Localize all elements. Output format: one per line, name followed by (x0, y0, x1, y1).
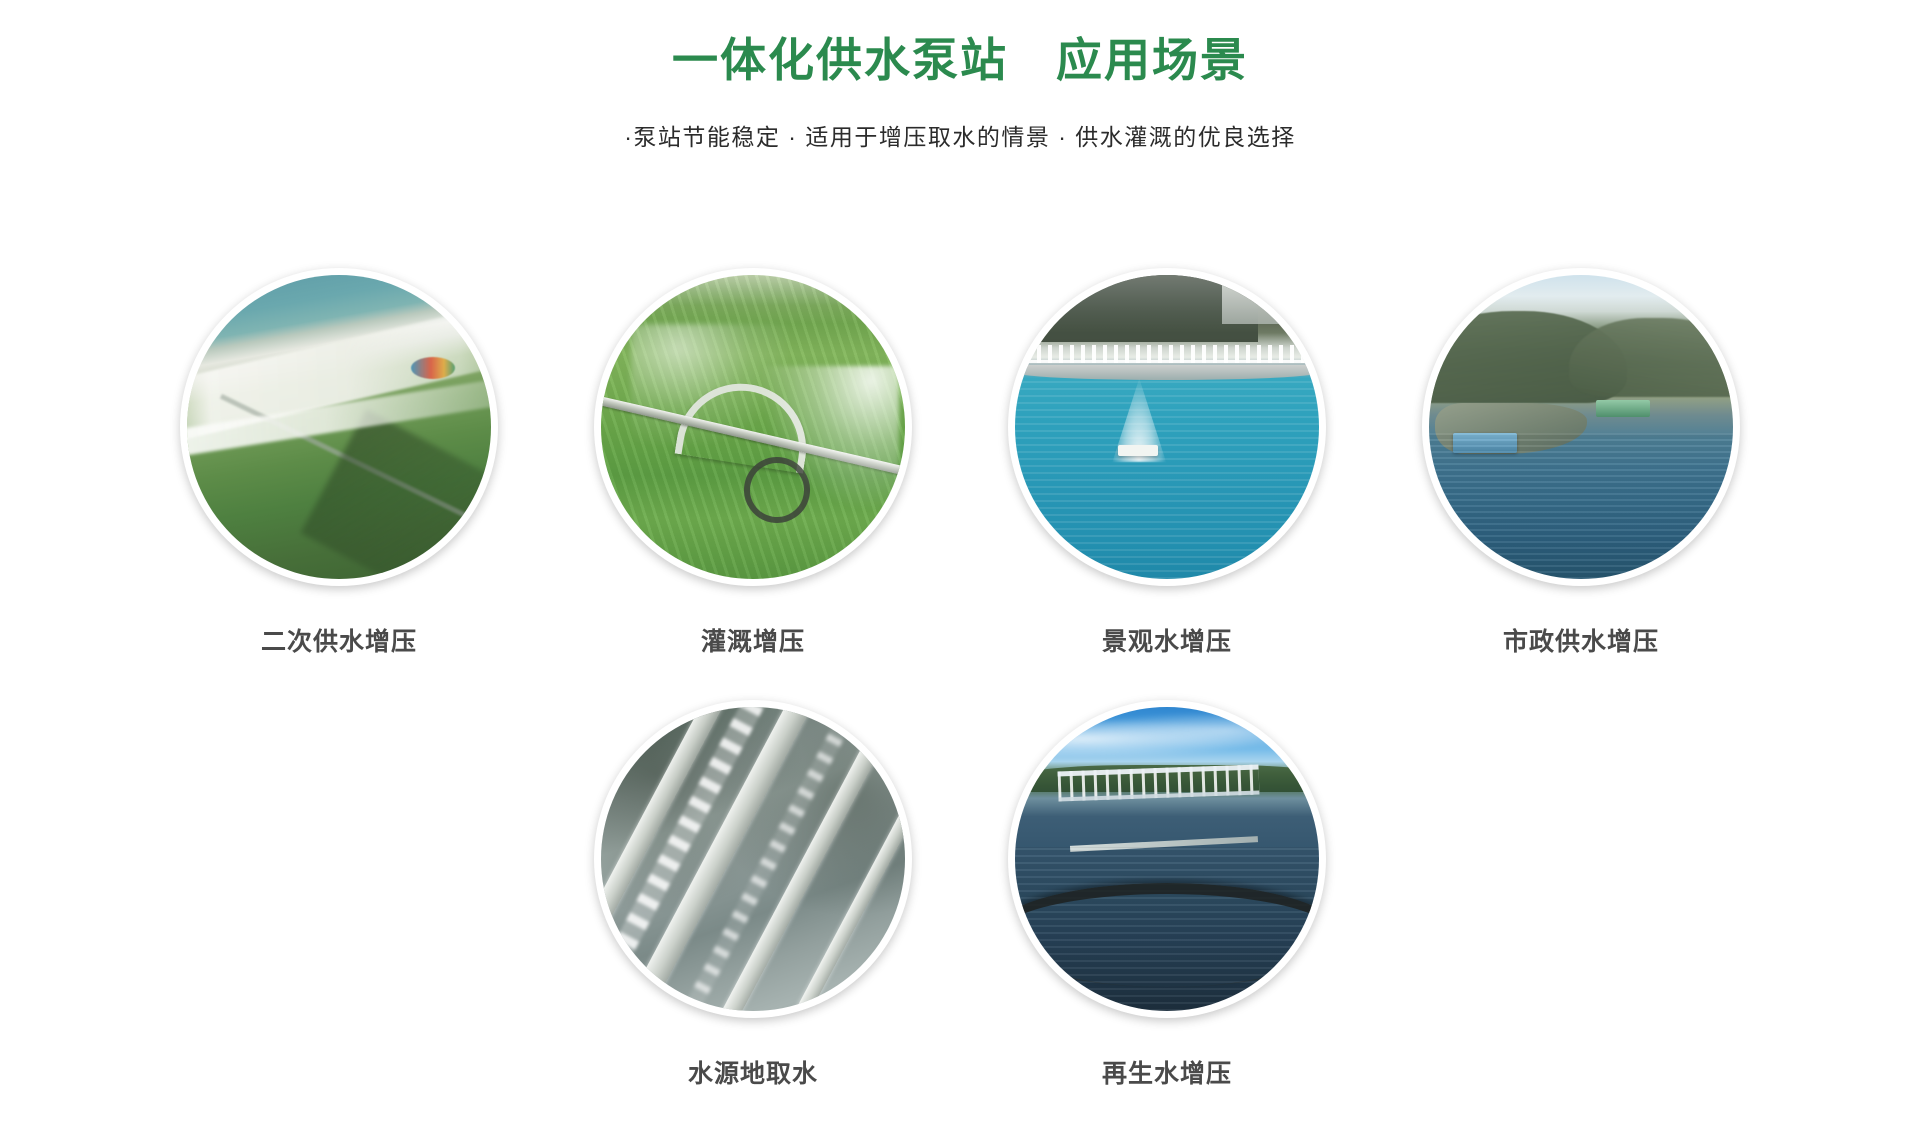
river-valley-intake-photo (1429, 275, 1733, 579)
scene-caption: 景观水增压 (1102, 622, 1232, 658)
scene-caption: 灌溉增压 (701, 622, 805, 658)
shore-structure-shape (1596, 400, 1650, 417)
fountain-base-shape (1118, 445, 1158, 456)
scene-card-irrigation-boosting[interactable]: 灌溉增压 (594, 268, 912, 658)
scene-caption: 再生水增压 (1102, 1054, 1232, 1090)
scene-image-frame (594, 700, 912, 1018)
scene-image-frame (1422, 268, 1740, 586)
application-scenarios-page: 一体化供水泵站 应用场景 ·泵站节能稳定 · 适用于增压取水的情景 · 供水灌溉… (0, 0, 1920, 1141)
scene-caption: 水源地取水 (688, 1054, 818, 1090)
page-subtitle: ·泵站节能稳定 · 适用于增压取水的情景 · 供水灌溉的优良选择 (0, 121, 1920, 153)
scene-grid-row-1: 二次供水增压 灌溉增压 (0, 268, 1920, 658)
scene-image-frame (180, 268, 498, 586)
walkway-bridge-shape (1057, 764, 1259, 801)
scene-card-landscape-water-boosting[interactable]: 景观水增压 (1008, 268, 1326, 658)
river-water-texture (1429, 433, 1733, 579)
hill-right-shape (1569, 318, 1733, 397)
white-fence-shape (1015, 345, 1319, 363)
sky-clouds-shape (1015, 713, 1319, 756)
building-light-shape (1222, 275, 1301, 324)
field-sprinkler-irrigation-photo (601, 275, 905, 579)
scene-card-source-water-intake[interactable]: 水源地取水 (594, 700, 912, 1090)
scene-caption: 市政供水增压 (1503, 622, 1659, 658)
landscape-pool-fountain-photo (1015, 275, 1319, 579)
park-treeline-shape (300, 410, 491, 579)
spray-plume-shape (759, 366, 899, 512)
aerial-park-waterfront-photo (187, 275, 491, 579)
scene-card-municipal-water-supply[interactable]: 市政供水增压 (1422, 268, 1740, 658)
clarifier-ring-shape (1015, 883, 1319, 986)
scene-grid-row-2: 水源地取水 再生水增压 (0, 700, 1920, 1090)
page-header: 一体化供水泵站 应用场景 ·泵站节能稳定 · 适用于增压取水的情景 · 供水灌溉… (0, 0, 1920, 153)
park-playground-shape (411, 357, 455, 379)
water-ripple-texture (1015, 378, 1319, 579)
scene-card-reclaimed-water-boosting[interactable]: 再生水增压 (1008, 700, 1326, 1090)
scene-image-frame (1008, 268, 1326, 586)
scene-card-secondary-water-supply[interactable]: 二次供水增压 (180, 268, 498, 658)
scene-caption: 二次供水增压 (261, 622, 417, 658)
scene-image-frame (594, 268, 912, 586)
scene-image-frame (1008, 700, 1326, 1018)
water-intake-channel-photo (601, 707, 905, 1011)
reclaimed-water-clarifier-photo (1015, 707, 1319, 1011)
page-title: 一体化供水泵站 应用场景 (0, 34, 1920, 87)
